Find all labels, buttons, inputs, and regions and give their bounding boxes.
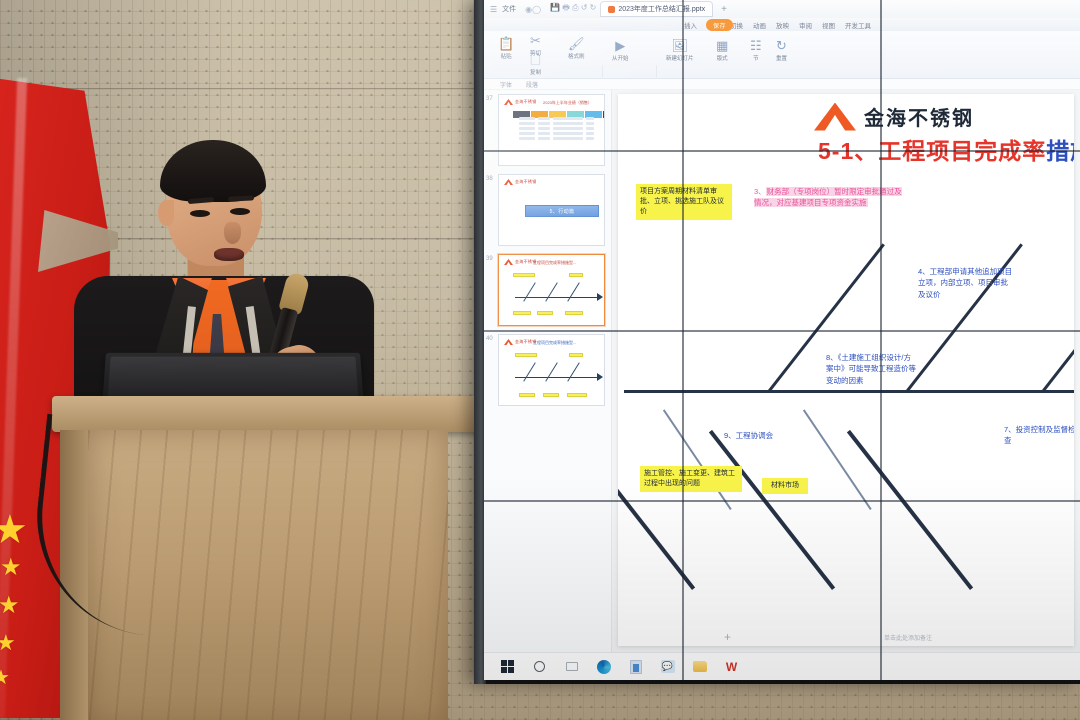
callout-construction-control[interactable]: 施工管控、施工变更、建筑工过程中出现的问题 (640, 466, 742, 492)
flag-star-icon: ★ (0, 510, 28, 550)
thumb-title: 工程项目完成率措施型... (533, 340, 576, 346)
fishbone-item-8-number: 8 (826, 353, 830, 362)
fishbone-yellow-note (513, 273, 535, 277)
tab-animation[interactable]: 动画 (753, 20, 766, 30)
play-icon: ▶ (615, 39, 625, 53)
wechat-button[interactable]: 💬 (660, 659, 675, 674)
fishbone-item-8-text: 《土建施工组织设计/方案中》可能导致工程造价等变动的因素 (826, 353, 916, 385)
screen-content: ☰ 文件 ◉◯ 💾 🖶 ⎙ ↺ ↻ 2023年度工作总结汇报.pptx + 插入… (484, 0, 1080, 680)
jinhai-logo-icon (504, 259, 513, 265)
thumb-fishbone-diagram (507, 269, 605, 321)
copy-icon: 🗋 (530, 53, 540, 67)
fishbone-item-7-text: 投资控制及监督检查 (1004, 425, 1074, 445)
fishbone-rib (567, 282, 580, 301)
copy-button[interactable]: 🗋 复制 (530, 53, 541, 76)
thumb-logo: 金海不锈钢 (504, 339, 537, 345)
thumb-logo-text: 金海不锈钢 (515, 179, 537, 185)
fishbone-rib (709, 430, 835, 590)
thumb-number: 40 (486, 336, 493, 342)
add-slide-button[interactable]: + (724, 630, 731, 644)
fishbone-yellow-note (569, 273, 583, 277)
wps-title-bar: ☰ 文件 ◉◯ 💾 🖶 ⎙ ↺ ↻ 2023年度工作总结汇报.pptx + (484, 0, 1080, 18)
folder-icon (693, 661, 707, 672)
thumb-logo-text: 金海不锈钢 (515, 99, 537, 105)
section-icon: ☷ (750, 39, 762, 53)
fishbone-item-7-number: 7 (1004, 425, 1008, 434)
display-panel-seam (484, 330, 1080, 332)
new-slide-button[interactable]: 🖼 新建幻灯片 (666, 39, 694, 62)
section-banner: 5、行动篇 (525, 205, 599, 217)
fishbone-yellow-note (537, 311, 553, 315)
windows-logo-icon (501, 660, 515, 674)
display-panel-seam (880, 0, 882, 680)
tab-view[interactable]: 视图 (822, 20, 835, 30)
tab-developer[interactable]: 开发工具 (845, 20, 871, 30)
tab-insert[interactable]: 插入 (684, 20, 697, 30)
tab-review[interactable]: 审阅 (799, 20, 812, 30)
jinhai-logo-icon (504, 339, 513, 345)
thumb-logo: 金海不锈钢 (504, 259, 537, 265)
display-panel-seam (484, 500, 1080, 502)
slide-thumbnail-39[interactable]: 39 金海不锈钢 工程项目完成率措施型... (498, 254, 605, 326)
fishbone-rib (523, 282, 536, 301)
slide-thumbnail-40[interactable]: 40 金海不锈钢 工程项目完成率措施型... (498, 334, 605, 406)
font-group-label: 字体 (500, 80, 512, 89)
nose (224, 222, 241, 244)
reset-button[interactable]: ↻ 重置 (776, 39, 787, 62)
new-tab-button[interactable]: + (717, 4, 731, 15)
new-slide-icon: 🖼 (672, 39, 689, 53)
display-panel-seam (682, 0, 684, 680)
fishbone-yellow-note (569, 353, 583, 357)
play-from-start-button[interactable]: ▶ 从开始 (612, 39, 629, 62)
layout-button[interactable]: ▦ 版式 (716, 39, 728, 62)
notes-placeholder[interactable]: 单击此处添加备注 (884, 633, 932, 642)
copy-label: 复制 (530, 68, 541, 76)
laptop-screen (108, 357, 359, 401)
fishbone-rib (523, 362, 536, 381)
flag-star-icon: ★ (0, 632, 16, 654)
current-slide[interactable]: 金海不锈钢 5-1、工程项目完成率措施型 (618, 94, 1074, 646)
slide-thumbnail-pane[interactable]: 37 金海不锈钢 2023年上半年业绩（销售） (484, 90, 612, 652)
fishbone-yellow-note (513, 311, 531, 315)
table-row (519, 137, 605, 140)
video-wall-display: ☰ 文件 ◉◯ 💾 🖶 ⎙ ↺ ↻ 2023年度工作总结汇报.pptx + 插入… (474, 0, 1080, 684)
fishbone-spine (515, 297, 599, 298)
reset-icon: ↻ (776, 39, 787, 53)
fishbone-yellow-note (519, 393, 535, 397)
thumb-logo: 金海不锈钢 (504, 99, 537, 105)
reset-label: 重置 (776, 54, 787, 62)
cut-icon: ✂ (530, 34, 541, 48)
ribbon-toolbar: 📋 粘贴 ✂ 剪切 🗋 复制 🖌 格式刷 ▶ 从开始 (484, 31, 1080, 79)
fishbone-rib (567, 362, 580, 381)
new-slide-label: 新建幻灯片 (666, 54, 694, 62)
fishbone-spine (515, 377, 599, 378)
jinhai-logo-icon (504, 99, 513, 105)
hamburger-menu-icon[interactable]: ☰ (490, 5, 497, 14)
fishbone-item-9-number: 9 (724, 431, 728, 440)
autosave-toggle[interactable]: ◉◯ (525, 5, 541, 14)
fishbone-rib (545, 362, 558, 381)
flag-star-icon: ★ (0, 556, 22, 580)
layout-label: 版式 (717, 54, 728, 62)
thumb-mini-table (519, 117, 605, 142)
fishbone-yellow-note (565, 311, 583, 315)
thumb-card[interactable]: 金海不锈钢 2023年上半年业绩（销售） (498, 94, 605, 166)
fishbone-sub-rib (803, 410, 871, 510)
fishbone-item-9[interactable]: 9、工程协调会 (724, 430, 814, 441)
store-icon (630, 660, 642, 674)
font-paragraph-strip: 字体 段落 (484, 79, 1080, 90)
fishbone-item-4-number: 4 (918, 267, 922, 276)
search-circle-icon (534, 661, 545, 672)
fishbone-item-3-number: 3 (754, 187, 758, 196)
format-painter-label: 格式刷 (568, 52, 585, 60)
slide-thumbnail-38[interactable]: 38 金海不锈钢 5、行动篇 (498, 174, 605, 246)
fishbone-item-4-text: 工程部申请其他追加项目立项，内部立项、项目审批及议价 (918, 267, 1012, 299)
ribbon-tab-strip: 插入 设计 切换 动画 放映 审阅 视图 开发工具 (484, 18, 1080, 31)
play-label: 从开始 (612, 54, 629, 62)
store-button[interactable] (628, 659, 643, 674)
fishbone-item-8[interactable]: 8、《土建施工组织设计/方案中》可能导致工程造价等变动的因素 (826, 352, 918, 386)
thumb-number: 39 (486, 256, 493, 262)
fishbone-yellow-note (567, 393, 587, 397)
file-explorer-button[interactable] (692, 659, 707, 674)
layout-icon: ▦ (716, 39, 728, 53)
edge-button[interactable] (596, 659, 611, 674)
thumb-fishbone-diagram (507, 349, 605, 401)
paste-icon: 📋 (498, 37, 514, 51)
fishbone-spine (624, 390, 1074, 393)
save-button[interactable]: 保存 (706, 19, 733, 31)
flag-star-icon: ★ (0, 594, 20, 618)
table-row (519, 132, 605, 135)
table-row (519, 127, 605, 130)
display-panel-seam (484, 150, 1080, 152)
hair (160, 140, 266, 202)
thumb-title: 工程项目完成率措施型... (533, 260, 576, 266)
thumb-card[interactable]: 金海不锈钢 工程项目完成率措施型... (498, 254, 605, 326)
mouth (214, 248, 244, 261)
fishbone-item-7[interactable]: 7、投资控制及监督检查 (1004, 424, 1074, 447)
fishbone-item-4[interactable]: 4、工程部申请其他追加项目立项，内部立项、项目审批及议价 (918, 266, 1014, 300)
search-button[interactable] (532, 659, 547, 674)
wps-button[interactable]: W (724, 659, 739, 674)
eye-right (230, 208, 250, 215)
callout-material-market[interactable]: 材料市场 (762, 478, 808, 494)
document-tab[interactable]: 2023年度工作总结汇报.pptx (601, 2, 712, 16)
format-painter-icon: 🖌 (568, 37, 585, 51)
tab-slideshow[interactable]: 放映 (776, 20, 789, 30)
task-view-button[interactable] (564, 659, 579, 674)
paste-button[interactable]: 📋 粘贴 (498, 37, 514, 60)
start-button[interactable] (500, 659, 515, 674)
thumb-title: 2023年上半年业绩（销售） (543, 100, 592, 106)
fishbone-sub-rib (663, 410, 731, 510)
format-painter-button[interactable]: 🖌 格式刷 (568, 37, 585, 60)
wps-doc-icon (608, 6, 615, 13)
jinhai-logo-icon (504, 179, 513, 185)
fishbone-arrow (597, 373, 603, 381)
thumb-number: 38 (486, 176, 493, 182)
thumb-number: 37 (486, 96, 493, 102)
table-row (519, 117, 605, 120)
document-tab-label: 2023年度工作总结汇报.pptx (618, 4, 705, 14)
fishbone-rib (545, 282, 558, 301)
section-button[interactable]: ☷ 节 (750, 39, 762, 62)
thumb-card[interactable]: 金海不锈钢 工程项目完成率措施型... (498, 334, 605, 406)
fishbone-rib (1042, 240, 1074, 392)
thumb-logo: 金海不锈钢 (504, 179, 537, 185)
wechat-icon: 💬 (661, 660, 675, 673)
table-row (519, 122, 605, 125)
slide-thumbnail-37[interactable]: 37 金海不锈钢 2023年上半年业绩（销售） (498, 94, 605, 166)
flag-star-icon: ★ (0, 668, 10, 688)
paste-label: 粘贴 (501, 52, 512, 60)
quick-access-toolbar[interactable]: 💾 🖶 ⎙ ↺ ↻ (550, 2, 596, 16)
edge-icon (597, 660, 611, 674)
eye-left (190, 210, 210, 217)
photo-scene: ★ ★ ★ ★ ★ (0, 0, 1080, 720)
thumb-card[interactable]: 金海不锈钢 5、行动篇 (498, 174, 605, 246)
ear (158, 200, 174, 226)
callout-project-material-list[interactable]: 项目方案周期材料清单审批、立项、挑选施工队及议价 (636, 184, 732, 220)
fishbone-yellow-note (543, 393, 559, 397)
task-view-icon (566, 662, 578, 671)
fishbone-item-9-text: 工程协调会 (736, 431, 774, 440)
file-menu-label[interactable]: 文件 (502, 4, 516, 14)
paragraph-group-label: 段落 (526, 80, 538, 89)
section-label: 节 (753, 54, 759, 62)
fishbone-rib (847, 430, 973, 590)
fishbone-arrow (597, 293, 603, 301)
fishbone-yellow-note (515, 353, 537, 357)
windows-taskbar: 💬 W (484, 652, 1080, 680)
